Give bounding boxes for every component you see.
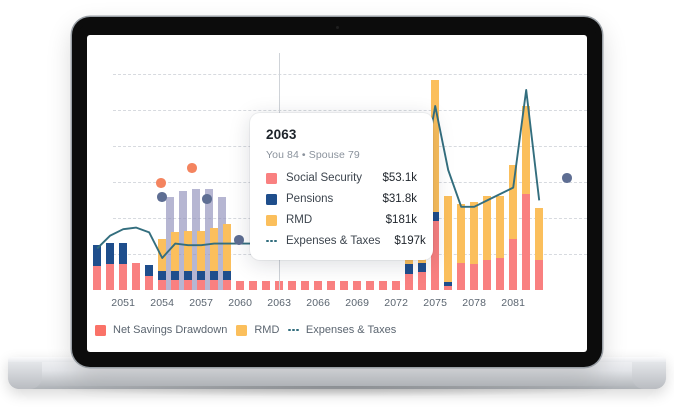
x-axis-tick-label: 2054: [142, 297, 182, 309]
chart-bar[interactable]: [171, 232, 179, 290]
tooltip-series-label: Pensions: [286, 193, 333, 205]
screenshot-stage: 2051205420572060206320662069207220752078…: [0, 0, 674, 410]
chart-scatter-marker[interactable]: [187, 163, 197, 173]
tooltip-series-value: $31.8k: [368, 193, 417, 205]
chart-scatter-marker[interactable]: [202, 194, 212, 204]
chart-bar-segment: [444, 286, 452, 290]
chart-bar[interactable]: [444, 196, 452, 290]
chart-bar-segment: [444, 196, 452, 282]
chart-scatter-marker[interactable]: [156, 178, 166, 188]
chart-bar-segment: [509, 165, 517, 239]
chart-bar-segment: [483, 260, 491, 290]
tooltip-series-label: Social Security: [286, 172, 362, 184]
chart-bar-segment: [483, 196, 491, 260]
laptop-drop-shadow: [40, 386, 634, 397]
chart-bar[interactable]: [132, 263, 140, 290]
chart-bar[interactable]: [366, 281, 374, 290]
tooltip-color-swatch: [266, 194, 277, 205]
chart-bar[interactable]: [184, 231, 192, 290]
tooltip-series-value: $181k: [372, 214, 417, 226]
chart-bar-segment: [457, 204, 465, 263]
chart-bar[interactable]: [379, 281, 387, 290]
chart-bar[interactable]: [314, 281, 322, 290]
chart-bar-segment: [418, 272, 426, 290]
x-axis-tick-label: 2060: [220, 297, 260, 309]
tooltip-row: Expenses & Taxes$197k: [266, 235, 417, 247]
chart-bar-segment: [145, 276, 153, 290]
dotted-line-icon: [266, 240, 277, 243]
chart-bar[interactable]: [483, 196, 491, 290]
chart-bar[interactable]: [119, 243, 127, 290]
legend-label: Expenses & Taxes: [306, 324, 396, 336]
chart-bar-segment: [340, 281, 348, 290]
chart-legend: Net Savings DrawdownRMDExpenses & Taxes: [95, 324, 396, 336]
x-axis-tick-label: 2066: [298, 297, 338, 309]
x-axis-tick-label: 2057: [181, 297, 221, 309]
chart-bar-segment: [171, 232, 179, 270]
chart-bar[interactable]: [223, 224, 231, 290]
chart-bar[interactable]: [145, 265, 153, 290]
chart-bar[interactable]: [236, 281, 244, 290]
chart-bar[interactable]: [392, 281, 400, 290]
chart-bar-segment: [444, 282, 452, 286]
webcam-icon: [336, 26, 339, 29]
legend-item[interactable]: Expenses & Taxes: [288, 324, 396, 336]
chart-bar-segment: [366, 281, 374, 290]
tooltip-title: 2063: [266, 127, 417, 142]
chart-bar-segment: [119, 264, 127, 290]
tooltip-color-swatch: [266, 215, 277, 226]
x-axis-tick-label: 2072: [376, 297, 416, 309]
chart-bar-segment: [197, 271, 205, 281]
laptop-mockup: 2051205420572060206320662069207220752078…: [0, 0, 674, 410]
chart-bar-segment: [158, 280, 166, 290]
chart-bar-segment: [197, 231, 205, 271]
chart-bar-segment: [301, 281, 309, 290]
chart-bar[interactable]: [496, 196, 504, 290]
chart-bar[interactable]: [535, 208, 543, 290]
chart-bar-segment: [457, 263, 465, 290]
laptop-screen: 2051205420572060206320662069207220752078…: [87, 35, 587, 352]
chart-tooltip: 2063You 84 • Spouse 79Social Security$53…: [250, 113, 433, 260]
dotted-line-icon: [288, 329, 299, 332]
chart-bar-segment: [119, 243, 127, 264]
chart-bar-segment: [405, 264, 413, 274]
chart-bar-segment: [353, 281, 361, 290]
chart-bar-segment: [106, 264, 114, 290]
chart-bar[interactable]: [340, 281, 348, 290]
x-axis-tick-label: 2075: [415, 297, 455, 309]
chart-bar-segment: [184, 271, 192, 281]
chart-bar-segment: [223, 271, 231, 281]
chart-bar-segment: [470, 202, 478, 264]
chart-bar-segment: [171, 271, 179, 281]
chart-bar[interactable]: [522, 106, 530, 290]
chart-bar-segment: [470, 264, 478, 290]
chart-bar[interactable]: [93, 245, 101, 290]
chart-bar-segment: [132, 263, 140, 290]
chart-bar-segment: [210, 228, 218, 271]
legend-color-swatch: [95, 325, 106, 336]
chart-bar-segment: [158, 239, 166, 271]
x-axis-tick-label: 2081: [493, 297, 533, 309]
legend-item[interactable]: Net Savings Drawdown: [95, 324, 227, 336]
chart-bar[interactable]: [327, 281, 335, 290]
tooltip-series-value: $197k: [380, 235, 425, 247]
retirement-income-chart[interactable]: 2051205420572060206320662069207220752078…: [87, 35, 587, 352]
chart-bar-segment: [184, 280, 192, 290]
chart-gridline: [113, 110, 587, 111]
chart-gridline: [113, 74, 587, 75]
chart-bar-segment: [210, 280, 218, 290]
chart-bar-segment: [535, 260, 543, 290]
chart-bar[interactable]: [301, 281, 309, 290]
chart-bar[interactable]: [197, 231, 205, 290]
chart-bar[interactable]: [262, 281, 270, 290]
chart-bar[interactable]: [106, 243, 114, 290]
chart-bar-segment: [418, 263, 426, 273]
chart-bar[interactable]: [470, 202, 478, 290]
x-axis-tick-label: 2078: [454, 297, 494, 309]
chart-bar-segment: [522, 106, 530, 194]
tooltip-subtitle: You 84 • Spouse 79: [266, 149, 417, 161]
x-axis-tick-label: 2069: [337, 297, 377, 309]
chart-bar[interactable]: [457, 204, 465, 290]
tooltip-row: RMD$181k: [266, 214, 417, 226]
tooltip-series-value: $53.1k: [368, 172, 417, 184]
chart-bar-segment: [223, 280, 231, 290]
chart-scatter-marker[interactable]: [562, 173, 572, 183]
x-axis-tick-label: 2063: [259, 297, 299, 309]
chart-bar-segment: [223, 224, 231, 270]
chart-bar-segment: [210, 271, 218, 281]
chart-bar-segment: [314, 281, 322, 290]
legend-item[interactable]: RMD: [236, 324, 279, 336]
tooltip-rows: Social Security$53.1kPensions$31.8kRMD$1…: [266, 172, 417, 247]
chart-bar-segment: [106, 243, 114, 265]
chart-bar[interactable]: [210, 228, 218, 290]
chart-scatter-marker[interactable]: [157, 192, 167, 202]
chart-bar[interactable]: [353, 281, 361, 290]
legend-color-swatch: [236, 325, 247, 336]
chart-bar-segment: [288, 281, 296, 290]
chart-bar-segment: [171, 280, 179, 290]
chart-bar-segment: [197, 280, 205, 290]
chart-bar[interactable]: [509, 165, 517, 290]
chart-bar-segment: [93, 245, 101, 266]
chart-bar-segment: [327, 281, 335, 290]
laptop-bezel: 2051205420572060206320662069207220752078…: [78, 23, 596, 361]
chart-bar-segment: [184, 231, 192, 271]
x-axis-tick-label: 2051: [103, 297, 143, 309]
chart-bar-segment: [496, 258, 504, 290]
legend-label: RMD: [254, 324, 279, 336]
chart-bar-segment: [249, 281, 257, 290]
chart-bar-segment: [496, 196, 504, 258]
chart-plot-area[interactable]: 2051205420572060206320662069207220752078…: [87, 35, 587, 352]
chart-bar[interactable]: [158, 239, 166, 290]
chart-bar-segment: [535, 208, 543, 259]
chart-bar-segment: [158, 271, 166, 281]
chart-bar[interactable]: [288, 281, 296, 290]
tooltip-series-label: Expenses & Taxes: [286, 235, 380, 247]
tooltip-series-label: RMD: [286, 214, 312, 226]
tooltip-row: Pensions$31.8k: [266, 193, 417, 205]
chart-scatter-marker[interactable]: [234, 235, 244, 245]
chart-bar-segment: [236, 281, 244, 290]
chart-bar-segment: [509, 239, 517, 290]
tooltip-row: Social Security$53.1k: [266, 172, 417, 184]
laptop-lid: 2051205420572060206320662069207220752078…: [72, 17, 602, 367]
legend-label: Net Savings Drawdown: [113, 324, 227, 336]
chart-bar-segment: [93, 266, 101, 290]
chart-bar-segment: [145, 265, 153, 275]
chart-bar-segment: [522, 194, 530, 290]
chart-bar-segment: [392, 281, 400, 290]
chart-bar-segment: [379, 281, 387, 290]
tooltip-color-swatch: [266, 173, 277, 184]
chart-bar[interactable]: [249, 281, 257, 290]
chart-bar-segment: [262, 281, 270, 290]
chart-bar-segment: [405, 274, 413, 290]
